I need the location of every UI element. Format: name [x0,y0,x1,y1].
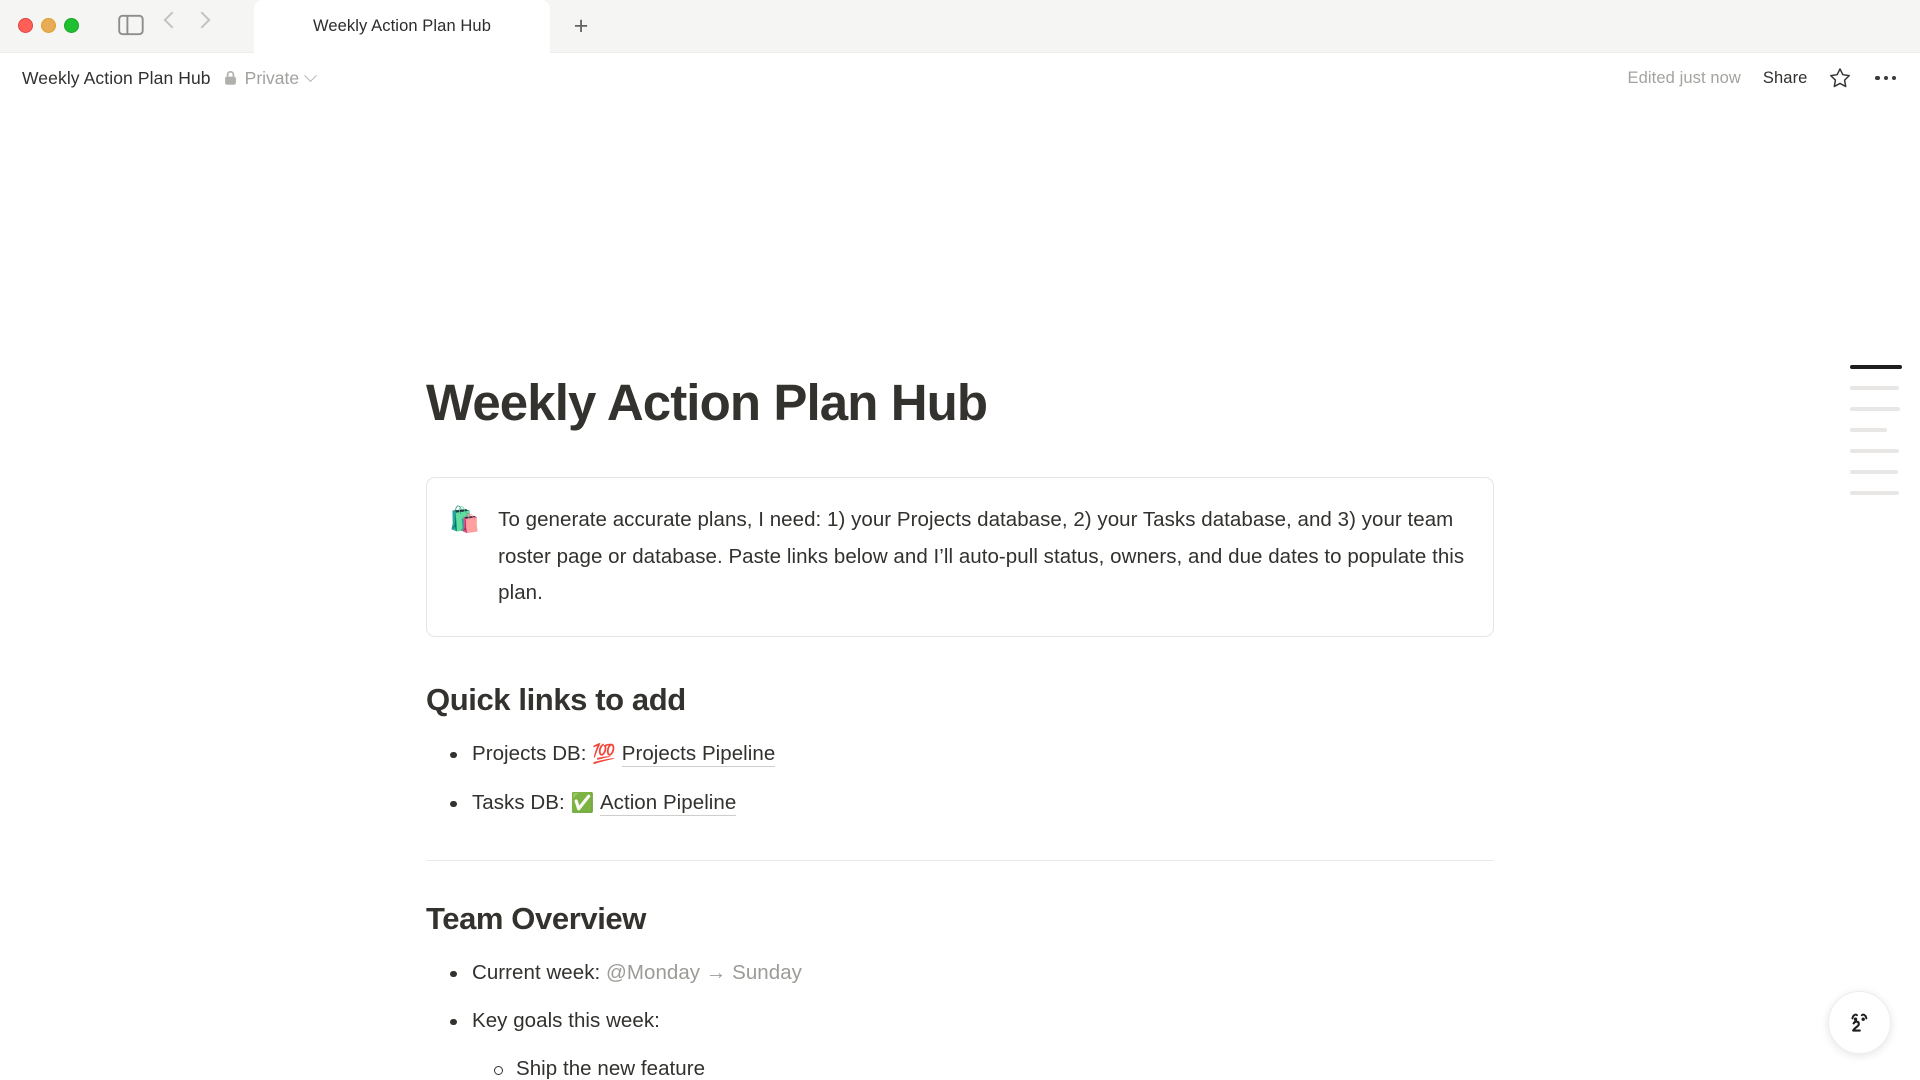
window-traffic-lights [18,18,79,33]
forward-icon[interactable] [194,12,211,29]
projects-db-prefix: Projects DB: [472,742,592,765]
team-overview-list: Current week: @Monday → Sunday Key goals… [426,949,1494,1045]
navigation-arrows [166,14,208,26]
breadcrumb: Weekly Action Plan Hub Private [22,53,315,103]
callout-text: To generate accurate plans, I need: 1) y… [498,502,1469,612]
maximize-window-button[interactable] [64,18,79,33]
list-item-tasks-db[interactable]: Tasks DB: ✅ Action Pipeline [426,779,1494,828]
hundred-points-emoji: 💯 [592,744,616,765]
topbar-actions: Edited just now Share [1628,53,1899,103]
chevron-down-icon [304,69,317,82]
ellipsis-icon[interactable] [1873,70,1898,86]
callout-block[interactable]: 🛍️ To generate accurate plans, I need: 1… [426,477,1494,637]
toc-line[interactable] [1850,449,1899,453]
minimize-window-button[interactable] [41,18,56,33]
privacy-label: Private [245,68,299,89]
page-title[interactable]: Weekly Action Plan Hub [426,375,1494,431]
toc-line[interactable] [1850,407,1900,411]
close-window-button[interactable] [18,18,33,33]
share-button[interactable]: Share [1763,69,1808,88]
lock-icon [223,70,238,86]
heading-team-overview[interactable]: Team Overview [426,901,1494,937]
breadcrumb-page-title[interactable]: Weekly Action Plan Hub [22,68,211,89]
back-icon[interactable] [164,12,181,29]
link-action-pipeline[interactable]: Action Pipeline [600,791,736,816]
key-goals-label: Key goals this week: [472,1009,660,1032]
tab-weekly-action-plan-hub[interactable]: Weekly Action Plan Hub [254,0,550,53]
check-mark-emoji: ✅ [570,793,594,814]
key-goals-sublist: Ship the new feature Onboard a new teamm… [470,1045,1494,1080]
link-projects-pipeline[interactable]: Projects Pipeline [622,742,776,767]
star-icon[interactable] [1829,67,1851,89]
current-week-prefix: Current week: [472,961,606,984]
toc-line[interactable] [1850,365,1902,369]
list-item-projects-db[interactable]: Projects DB: 💯 Projects Pipeline [426,730,1494,779]
table-of-contents-minimap[interactable] [1842,365,1902,495]
toc-line[interactable] [1850,491,1899,495]
page-content: Weekly Action Plan Hub 🛍️ To generate ac… [426,103,1494,1080]
sidebar-toggle-icon[interactable] [118,14,144,36]
section-divider [426,860,1494,861]
heading-quick-links[interactable]: Quick links to add [426,682,1494,718]
grocery-bag-emoji: 🛍️ [449,502,480,538]
toc-line[interactable] [1850,386,1899,390]
list-item-goal[interactable]: Ship the new feature [470,1045,1494,1080]
quick-links-list: Projects DB: 💯 Projects Pipeline Tasks D… [426,730,1494,828]
page-body: Weekly Action Plan Hub 🛍️ To generate ac… [0,103,1920,1080]
list-item-key-goals[interactable]: Key goals this week: [426,997,1494,1045]
notion-ai-face-icon[interactable] [1828,991,1891,1054]
new-tab-button[interactable]: + [567,13,595,41]
list-item-current-week[interactable]: Current week: @Monday → Sunday [426,949,1494,997]
page-topbar: Weekly Action Plan Hub Private Edited ju… [0,53,1920,103]
tab-label: Weekly Action Plan Hub [313,17,491,36]
privacy-selector[interactable]: Private [223,68,315,89]
edited-status: Edited just now [1628,69,1741,88]
date-mention[interactable]: @Monday → Sunday [606,961,802,984]
toc-line[interactable] [1850,428,1887,432]
tasks-db-prefix: Tasks DB: [472,791,570,814]
window-tab-strip: Weekly Action Plan Hub + [0,0,1920,53]
toc-line[interactable] [1850,470,1898,474]
